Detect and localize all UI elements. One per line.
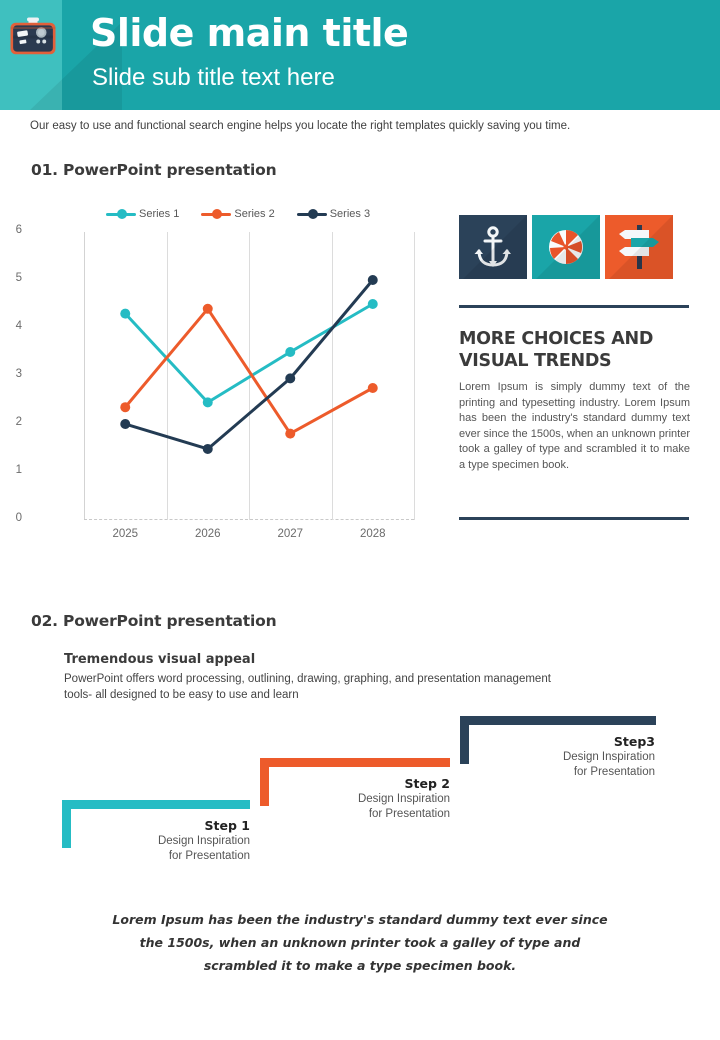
section-2-subtitle: Tremendous visual appeal: [64, 652, 255, 667]
x-tick-2026: 2026: [173, 528, 243, 540]
step-bar-vertical-1: [62, 800, 71, 848]
step-bar-horizontal-3: [460, 716, 656, 725]
step-desc-line1-2: Design Inspiration: [300, 792, 450, 807]
data-point-s1-2028[interactable]: [368, 299, 378, 309]
right-block-title: MORE CHOICES AND VISUAL TRENDS: [459, 328, 694, 372]
chart-plot-area: 0123456 2025202620272028: [84, 232, 414, 520]
series-line-1: [125, 304, 373, 402]
legend-swatch-series-1: [106, 213, 136, 216]
divider-top: [459, 305, 689, 308]
data-point-s3-2027[interactable]: [285, 373, 295, 383]
icon-box-row: [459, 215, 673, 279]
chart-series-layer: [84, 232, 414, 520]
y-tick-4: 4: [0, 320, 22, 332]
section-2-heading: 02. PowerPoint presentation: [31, 612, 276, 630]
step-desc-line1-3: Design Inspiration: [500, 750, 655, 765]
header-title-group: Slide main title Slide sub title text he…: [90, 10, 408, 94]
divider-bottom: [459, 517, 689, 520]
step-desc-line2-2: for Presentation: [300, 807, 450, 822]
step-bar-horizontal-1: [62, 800, 250, 809]
page-title: Slide main title: [90, 10, 408, 56]
y-tick-3: 3: [0, 368, 22, 380]
data-point-s1-2025[interactable]: [120, 309, 130, 319]
data-point-s1-2027[interactable]: [285, 347, 295, 357]
steps-diagram: Step 1Design Inspirationfor Presentation…: [0, 700, 720, 890]
data-point-s1-2026[interactable]: [203, 397, 213, 407]
step-bar-vertical-3: [460, 716, 469, 764]
legend-item-series-1[interactable]: Series 1: [106, 208, 179, 220]
intro-paragraph: Our easy to use and functional search en…: [30, 118, 670, 134]
data-point-s2-2028[interactable]: [368, 383, 378, 393]
x-tick-2027: 2027: [255, 528, 325, 540]
data-point-s3-2026[interactable]: [203, 444, 213, 454]
y-tick-5: 5: [0, 272, 22, 284]
data-point-s3-2028[interactable]: [368, 275, 378, 285]
x-tick-2025: 2025: [90, 528, 160, 540]
chart-legend: Series 1 Series 2 Series 3: [106, 205, 406, 223]
step-desc-line2-1: for Presentation: [100, 849, 250, 864]
suitcase-icon: [9, 16, 57, 58]
data-point-s2-2026[interactable]: [203, 304, 213, 314]
step-label-3: Step3Design Inspirationfor Presentation: [500, 734, 655, 780]
slide-header: Slide main title Slide sub title text he…: [0, 0, 720, 110]
right-block-body: Lorem Ipsum is simply dummy text of the …: [459, 380, 690, 474]
icon-box-signpost[interactable]: [605, 215, 673, 279]
legend-label-series-2: Series 2: [234, 208, 274, 220]
legend-item-series-3[interactable]: Series 3: [297, 208, 370, 220]
page-subtitle: Slide sub title text here: [92, 62, 408, 94]
legend-swatch-series-3: [297, 213, 327, 216]
legend-label-series-1: Series 1: [139, 208, 179, 220]
slide-canvas: Slide main title Slide sub title text he…: [0, 0, 720, 1040]
data-point-s3-2025[interactable]: [120, 419, 130, 429]
icon-box-beach-umbrella[interactable]: [532, 215, 600, 279]
data-point-s2-2027[interactable]: [285, 429, 295, 439]
step-desc-line2-3: for Presentation: [500, 765, 655, 780]
step-label-2: Step 2Design Inspirationfor Presentation: [300, 776, 450, 822]
legend-item-series-2[interactable]: Series 2: [201, 208, 274, 220]
section-2-body: PowerPoint offers word processing, outli…: [64, 671, 554, 703]
footer-quote: Lorem Ipsum has been the industry's stan…: [110, 908, 610, 977]
icon-box-anchor[interactable]: [459, 215, 527, 279]
line-chart: Series 1 Series 2 Series 3 0123456 20252…: [28, 200, 428, 550]
y-tick-1: 1: [0, 464, 22, 476]
y-tick-6: 6: [0, 224, 22, 236]
y-tick-0: 0: [0, 512, 22, 524]
x-tick-2028: 2028: [338, 528, 408, 540]
step-title-2: Step 2: [300, 776, 450, 792]
section-1-heading: 01. PowerPoint presentation: [31, 161, 276, 179]
y-tick-2: 2: [0, 416, 22, 428]
step-bar-vertical-2: [260, 758, 269, 806]
step-title-1: Step 1: [100, 818, 250, 834]
legend-label-series-3: Series 3: [330, 208, 370, 220]
step-title-3: Step3: [500, 734, 655, 750]
step-bar-horizontal-2: [260, 758, 450, 767]
step-desc-line1-1: Design Inspiration: [100, 834, 250, 849]
step-label-1: Step 1Design Inspirationfor Presentation: [100, 818, 250, 864]
gridline-v-4: [414, 232, 415, 520]
data-point-s2-2025[interactable]: [120, 402, 130, 412]
legend-swatch-series-2: [201, 213, 231, 216]
